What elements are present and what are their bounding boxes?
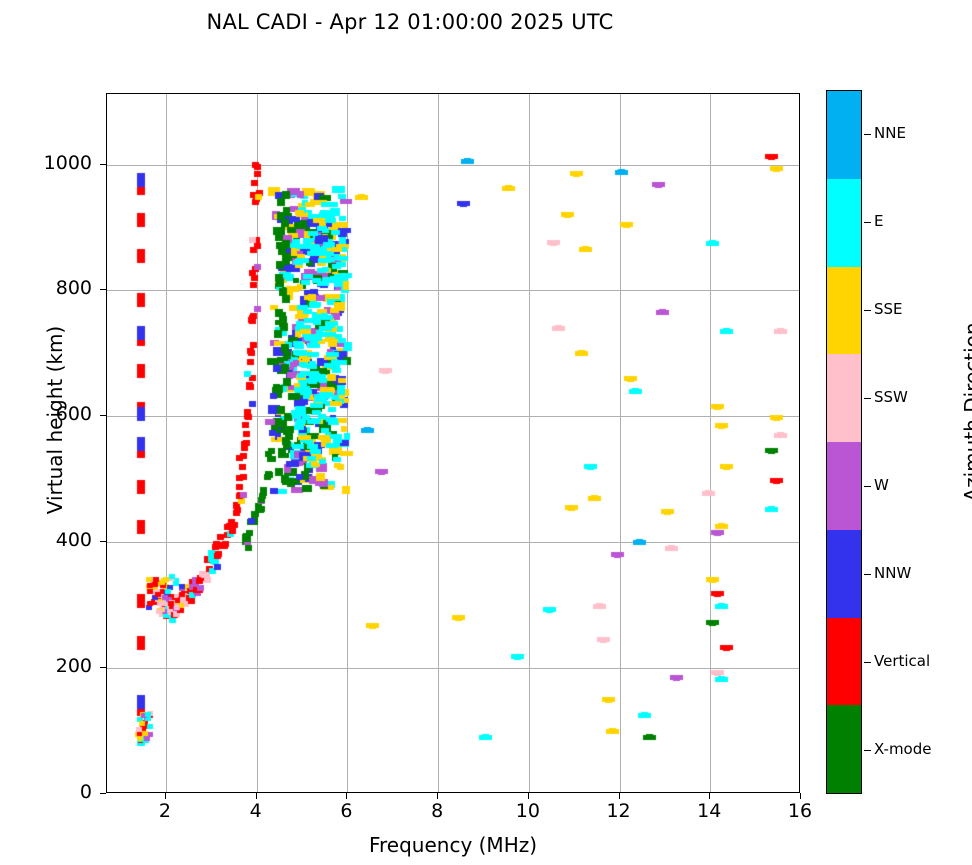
x-axis-label: Frequency (MHz) — [106, 833, 800, 857]
x-tick — [619, 793, 620, 799]
x-tick — [165, 793, 166, 799]
x-tick-label: 8 — [407, 800, 467, 822]
colorbar-segment-vertical — [827, 618, 861, 706]
y-tick — [100, 164, 106, 165]
colorbar-tick — [864, 750, 871, 751]
colorbar-tick — [864, 398, 871, 399]
colorbar-tick — [864, 486, 871, 487]
x-tick-label: 14 — [679, 800, 739, 822]
colorbar-segment-e — [827, 179, 861, 267]
x-tick — [800, 793, 801, 799]
colorbar-label-sse: SSE — [874, 300, 903, 318]
x-tick — [256, 793, 257, 799]
y-tick — [100, 289, 106, 290]
x-tick — [528, 793, 529, 799]
colorbar-label-x-mode: X-mode — [874, 740, 931, 758]
y-tick-label: 200 — [22, 655, 92, 677]
x-tick — [709, 793, 710, 799]
x-tick-label: 6 — [316, 800, 376, 822]
x-tick-label: 2 — [135, 800, 195, 822]
y-tick-label: 0 — [22, 781, 92, 803]
colorbar-label-e: E — [874, 212, 883, 230]
colorbar — [826, 90, 862, 794]
y-tick — [100, 667, 106, 668]
data-layer — [107, 94, 799, 792]
x-tick — [437, 793, 438, 799]
colorbar-segment-nnw — [827, 530, 861, 618]
y-tick — [100, 541, 106, 542]
ionogram-canvas — [107, 94, 799, 792]
x-tick-label: 16 — [770, 800, 830, 822]
colorbar-label-vertical: Vertical — [874, 652, 930, 670]
x-tick-label: 4 — [226, 800, 286, 822]
colorbar-segment-x-mode — [827, 705, 861, 793]
colorbar-label-ssw: SSW — [874, 388, 908, 406]
colorbar-tick — [864, 134, 871, 135]
ionogram-figure: NAL CADI - Apr 12 01:00:00 2025 UTC 2468… — [0, 0, 972, 865]
colorbar-tick — [864, 310, 871, 311]
y-tick-label: 1000 — [22, 152, 92, 174]
colorbar-segment-ssw — [827, 354, 861, 442]
colorbar-label-nnw: NNW — [874, 564, 911, 582]
colorbar-title: Azimuth Direction — [960, 252, 972, 572]
colorbar-tick — [864, 574, 871, 575]
colorbar-label-nne: NNE — [874, 124, 906, 142]
x-tick-label: 12 — [589, 800, 649, 822]
x-tick-label: 10 — [498, 800, 558, 822]
colorbar-segment-sse — [827, 267, 861, 355]
figure-title: NAL CADI - Apr 12 01:00:00 2025 UTC — [0, 10, 820, 34]
y-tick — [100, 415, 106, 416]
colorbar-tick — [864, 662, 871, 663]
y-axis-label: Virtual height (km) — [43, 260, 67, 580]
colorbar-tick — [864, 222, 871, 223]
colorbar-segment-nne — [827, 91, 861, 179]
y-tick — [100, 793, 106, 794]
x-tick — [346, 793, 347, 799]
plot-area — [106, 93, 800, 793]
colorbar-label-w: W — [874, 476, 889, 494]
colorbar-segment-w — [827, 442, 861, 530]
